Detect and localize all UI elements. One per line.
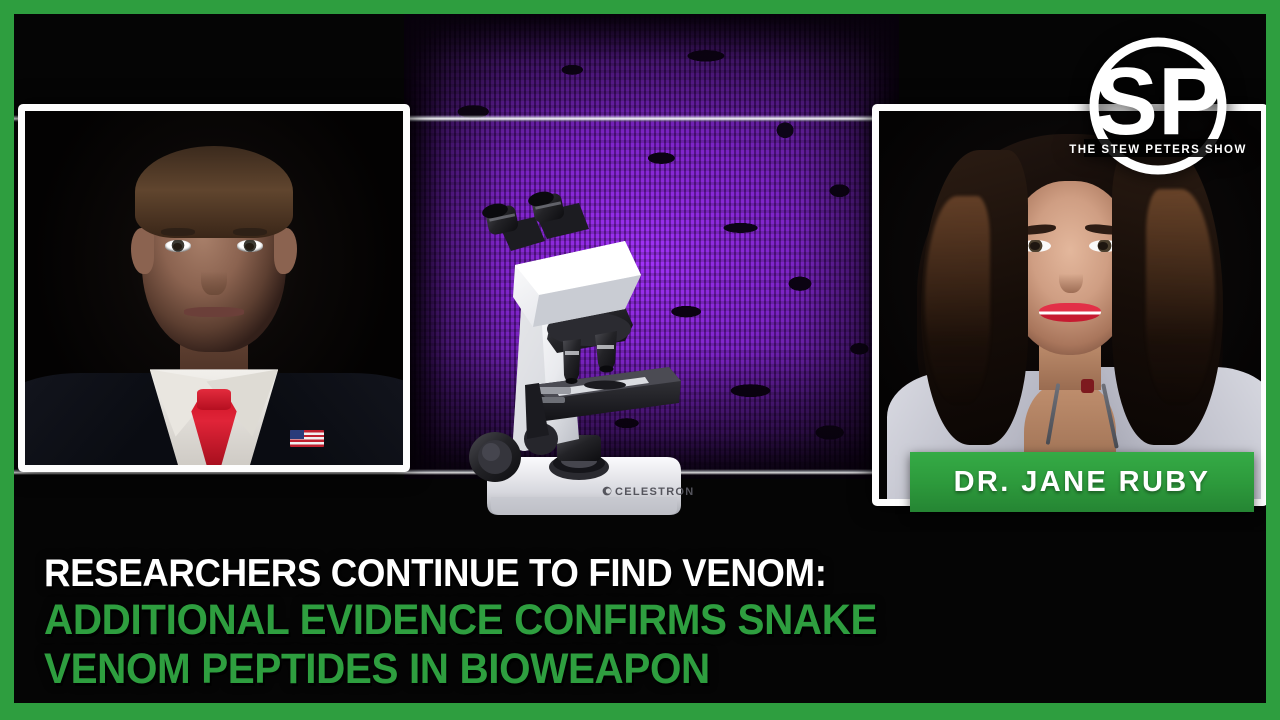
stethoscope-tag-icon — [1081, 379, 1094, 393]
american-flag-lapel-pin — [290, 430, 324, 448]
headline-line-3: VENOM PEPTIDES IN BIOWEAPON — [44, 648, 984, 691]
stew-peters-show-logo[interactable]: SP THE STEW PETERS SHOW — [1058, 26, 1258, 196]
host-photo — [25, 111, 403, 465]
host-photo-frame — [18, 104, 410, 472]
guest-name-label: DR. JANE RUBY — [954, 466, 1211, 499]
content-area: CELESTRON — [14, 14, 1266, 703]
svg-text:CELESTRON: CELESTRON — [615, 486, 695, 498]
logo-mark-text: SP — [1094, 48, 1222, 155]
logo-tagline-text: THE STEW PETERS SHOW — [1069, 144, 1247, 156]
guest-name-banner: DR. JANE RUBY — [910, 452, 1254, 512]
headline-line-2: ADDITIONAL EVIDENCE CONFIRMS SNAKE — [44, 599, 984, 642]
headline-block: RESEARCHERS CONTINUE TO FIND VENOM: ADDI… — [44, 554, 1044, 697]
microscope-image: CELESTRON — [429, 189, 719, 519]
thumbnail-stage: CELESTRON — [0, 0, 1280, 720]
headline-line-1: RESEARCHERS CONTINUE TO FIND VENOM: — [44, 554, 984, 593]
